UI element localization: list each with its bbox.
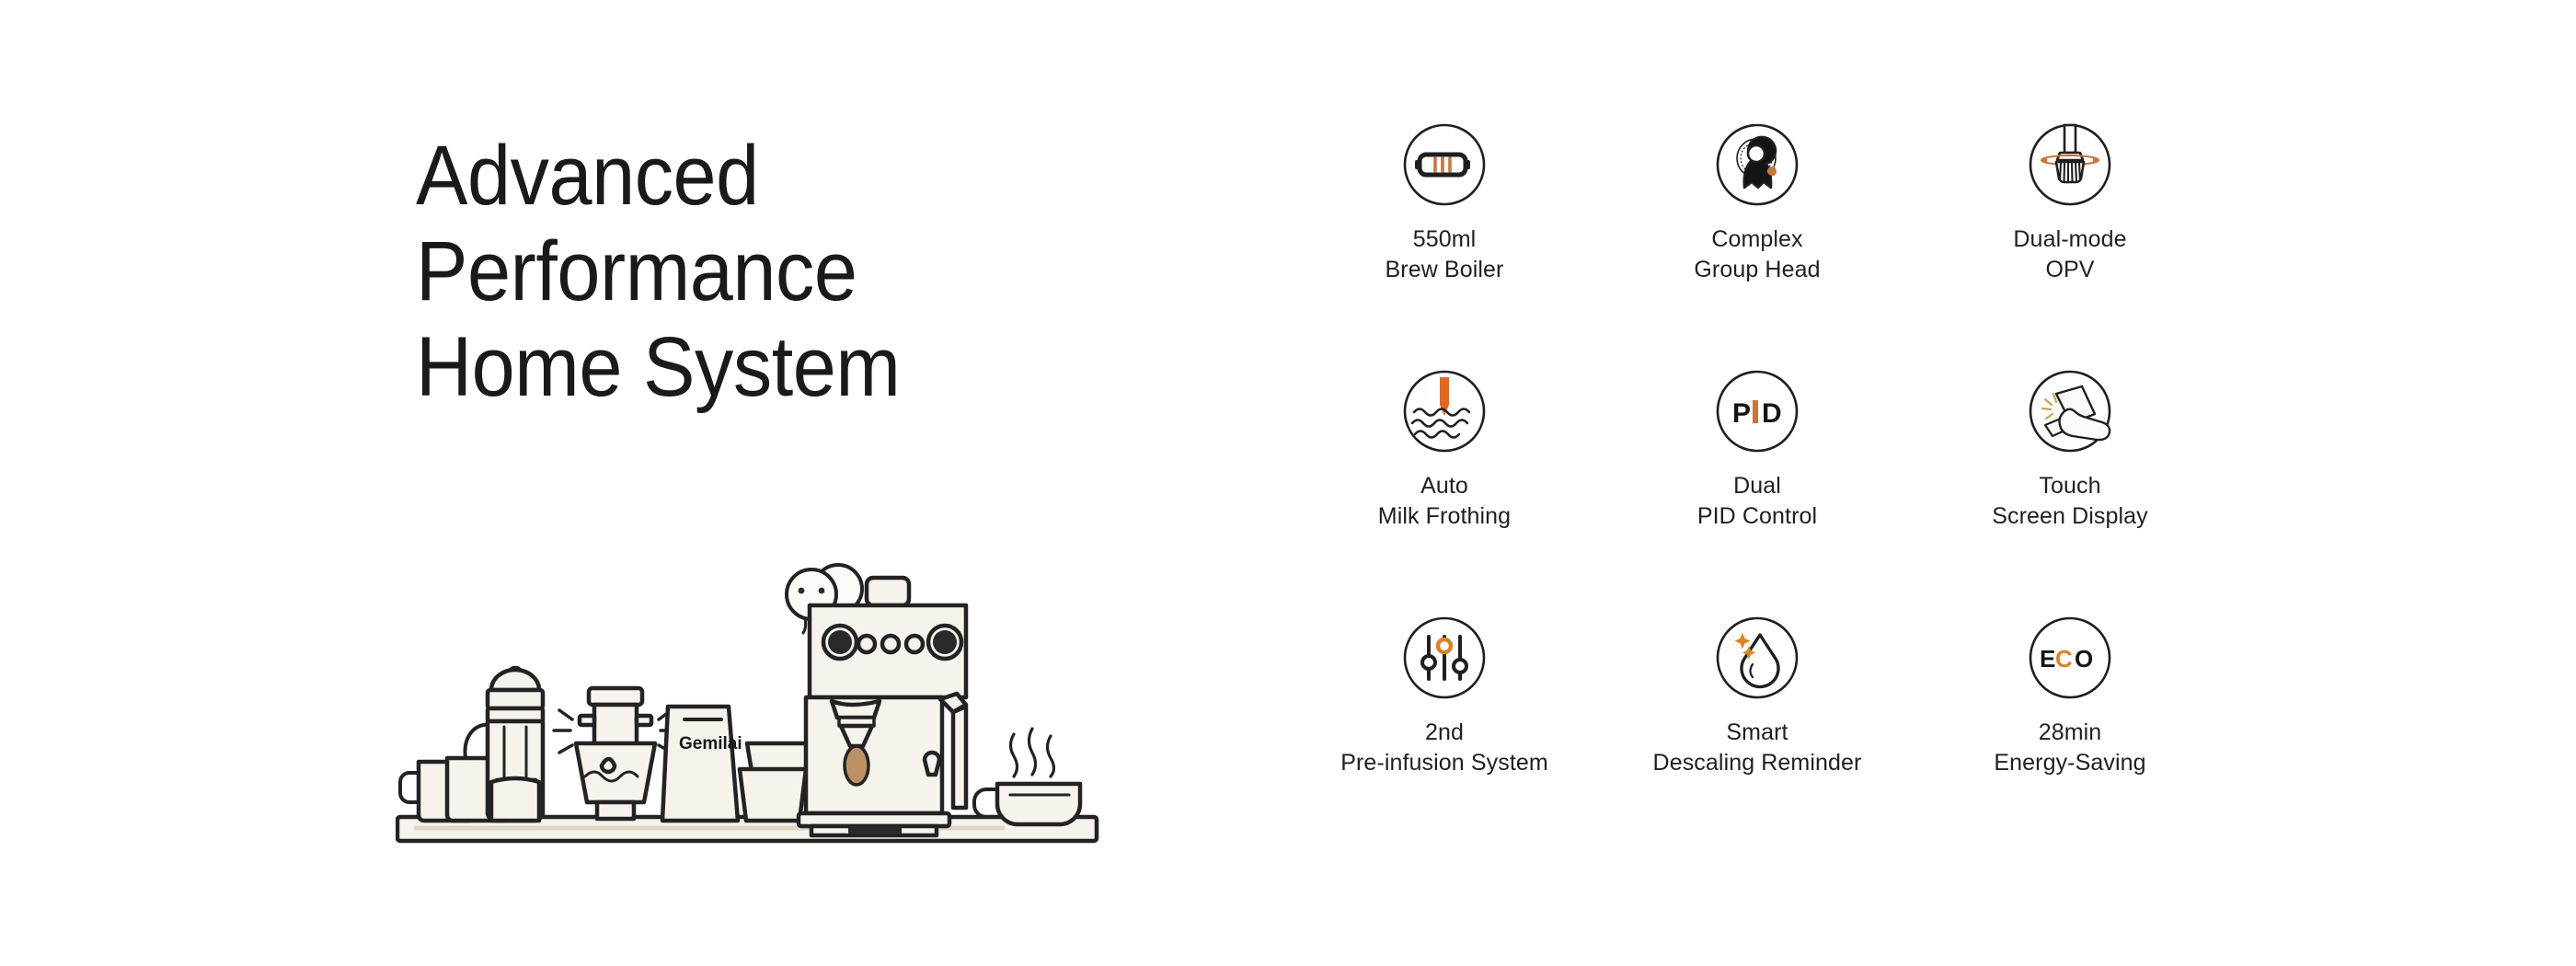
french-press-item	[488, 668, 543, 821]
feature-label: Touch Screen Display	[1992, 471, 2148, 533]
feature-label: Dual PID Control	[1697, 471, 1817, 533]
feature-label: 550ml Brew Boiler	[1386, 224, 1504, 286]
feature-grid: 550ml Brew Boiler Complex Group Head	[1288, 121, 2226, 861]
feature-label: 2nd Pre-infusion System	[1340, 718, 1548, 779]
steam-lines	[1011, 729, 1054, 776]
descaling-droplet-icon	[1714, 615, 1800, 701]
feature-label: 28min Energy-Saving	[1994, 718, 2145, 779]
espresso-machine-item	[787, 565, 966, 835]
feature-item-pid[interactable]: P D Dual PID Control	[1601, 368, 1914, 615]
feature-label: Complex Group Head	[1694, 224, 1820, 286]
coffee-bag-item: Gemilai	[662, 707, 742, 821]
eco-letter-c: C	[2055, 645, 2073, 673]
pid-icon: P D	[1714, 368, 1800, 454]
touch-screen-icon	[2027, 368, 2113, 454]
feature-label: Smart Descaling Reminder	[1653, 718, 1862, 779]
feature-item-descaling[interactable]: Smart Descaling Reminder	[1601, 615, 1914, 861]
brand-label: Gemilai	[679, 734, 742, 753]
page-title: Advanced Performance Home System	[416, 129, 1144, 416]
pid-letter-d: D	[1762, 398, 1782, 429]
eco-letter-e: E	[2040, 645, 2055, 673]
pour-over-dripper-item	[554, 688, 677, 819]
pre-infusion-sliders-icon	[1401, 615, 1488, 701]
pid-letter-p: P	[1732, 398, 1751, 429]
feature-item-opv[interactable]: Dual-mode OPV	[1914, 121, 2226, 368]
steaming-cup-item	[974, 729, 1080, 824]
opv-valve-icon	[2027, 121, 2113, 208]
milk-frothing-icon	[1401, 368, 1488, 454]
feature-item-brew-boiler[interactable]: 550ml Brew Boiler	[1288, 121, 1601, 368]
feature-label: Auto Milk Frothing	[1378, 471, 1511, 533]
feature-item-group-head[interactable]: Complex Group Head	[1601, 121, 1914, 368]
feature-item-touch-screen[interactable]: Touch Screen Display	[1914, 368, 2226, 615]
eco-icon: E C O	[2027, 615, 2113, 701]
brew-boiler-icon	[1401, 121, 1488, 208]
coffee-setup-illustration: .ln { fill:none; stroke:#232323; stroke-…	[396, 552, 1104, 856]
feature-item-milk-frothing[interactable]: Auto Milk Frothing	[1288, 368, 1601, 615]
eco-letter-o: O	[2075, 645, 2093, 673]
group-head-icon	[1714, 121, 1800, 208]
feature-label: Dual-mode OPV	[2013, 224, 2126, 286]
feature-item-pre-infusion[interactable]: 2nd Pre-infusion System	[1288, 615, 1601, 861]
left-panel: Advanced Performance Home System .ln { f…	[0, 0, 1224, 966]
feature-item-eco[interactable]: E C O 28min Energy-Saving	[1914, 615, 2226, 861]
